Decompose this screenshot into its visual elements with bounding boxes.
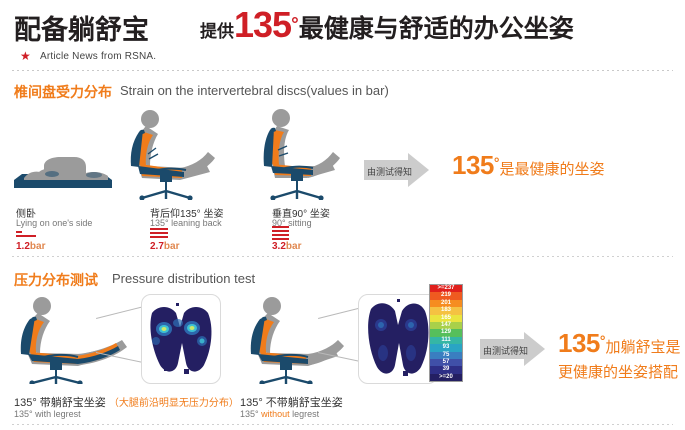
figure-label-en: Lying on one's side (16, 218, 92, 228)
page-title-left: 配备躺舒宝 (14, 8, 149, 47)
pressure-map-with-legrest (141, 294, 221, 384)
strain-unit-2: bar (164, 241, 180, 252)
figure3-label-en-suffix: legrest (290, 409, 320, 419)
legend-entry: 165 (430, 315, 462, 322)
legend-entry: 183 (430, 307, 462, 314)
figure3-label-cn: 135° 不带躺舒宝坐姿 (240, 394, 343, 410)
legend-entry: 129 (430, 329, 462, 336)
legend-entry: 219 (430, 292, 462, 299)
title-suffix: 最健康与舒适的办公坐姿 (299, 15, 574, 43)
conclusion-label-2a: 加躺舒宝是 (606, 339, 681, 356)
chair-without-legrest-icon (238, 296, 348, 384)
section-divider-2 (12, 424, 673, 425)
figure3-label-en-highlight: without (261, 409, 290, 419)
legend-entry: 93 (430, 344, 462, 351)
figure-label-en: 135° leaning back (150, 218, 222, 228)
strain-value-3: 3.2bar (272, 241, 301, 252)
arrow-label-2: 由测试得知 (483, 344, 528, 357)
conclusion-label-1: 是最健康的坐姿 (500, 161, 605, 178)
lying-person-icon (8, 140, 118, 198)
arrow-label-1: 由测试得知 (367, 165, 412, 178)
star-icon: ★ (20, 50, 31, 62)
pressure-map-without-legrest (358, 294, 438, 384)
strain-bars-1 (16, 231, 36, 239)
strain-bars-3 (272, 226, 289, 242)
page-title-right: 提供135°最健康与舒适的办公坐姿 (200, 4, 574, 46)
legend-entry: 147 (430, 322, 462, 329)
title-prefix: 提供 (200, 22, 234, 41)
legend-entry: 57 (430, 359, 462, 366)
strain-number-2: 2.7 (150, 241, 164, 252)
figure2-label-note: （大腿前沿明显无压力分布） (109, 398, 239, 409)
section2-heading-en: Pressure distribution test (112, 271, 255, 286)
strain-value-1: 1.2bar (16, 241, 45, 252)
figure2-label-cn: 135° 带躺舒宝坐姿 （大腿前沿明显无压力分布） (14, 394, 239, 410)
chair-with-legrest-icon (8, 296, 134, 384)
section-divider-1 (12, 256, 673, 257)
title-angle-number: 135 (234, 4, 291, 45)
section1-heading-en: Strain on the intervertebral discs(value… (120, 83, 389, 98)
section1-heading-cn: 椎间盘受力分布 (14, 82, 112, 102)
strain-number-3: 3.2 (272, 241, 286, 252)
strain-unit-3: bar (286, 241, 302, 252)
header-divider (12, 70, 673, 71)
figure2-label-en: 135° with legrest (14, 409, 81, 419)
figure3-label-en-prefix: 135° (240, 409, 261, 419)
legend-entry: 111 (430, 337, 462, 344)
strain-number-1: 1.2 (16, 241, 30, 252)
legend-entry: 75 (430, 352, 462, 359)
strain-unit-1: bar (30, 241, 46, 252)
chair-upright-90-icon (245, 108, 345, 200)
title-degree-symbol: ° (291, 15, 299, 36)
chair-leaning-135-icon (120, 108, 225, 200)
section2-heading-cn: 压力分布测试 (14, 270, 98, 290)
conclusion-text-1: 135°是最健康的坐姿 (452, 150, 605, 181)
conclusion-number-2: 135 (558, 328, 600, 358)
legend-entry: 39 (430, 366, 462, 373)
conclusion-text-2: 135°加躺舒宝是 更健康的坐姿搭配 (558, 328, 681, 382)
conclusion-arrow-1: 由测试得知 (364, 153, 430, 187)
strain-value-2: 2.7bar (150, 241, 179, 252)
conclusion-number-1: 135 (452, 150, 494, 180)
conclusion-arrow-2: 由测试得知 (480, 332, 546, 366)
legend-entry: 201 (430, 300, 462, 307)
pressure-color-scale: >=237 219 201 183 165 147 129 111 93 75 … (429, 284, 463, 382)
infographic-page: 配备躺舒宝 提供135°最健康与舒适的办公坐姿 ★ Article News f… (0, 0, 685, 430)
conclusion-label-2b: 更健康的坐姿搭配 (558, 361, 681, 382)
figure2-label-main: 135° 带躺舒宝坐姿 (14, 397, 106, 409)
figure3-label-en: 135° without legrest (240, 409, 319, 419)
strain-bars-2 (150, 228, 168, 240)
legend-entry: >=20 (430, 374, 462, 381)
source-note: Article News from RSNA. (40, 51, 156, 62)
page-header: 配备躺舒宝 提供135°最健康与舒适的办公坐姿 ★ Article News f… (0, 0, 685, 72)
legend-entry: >=237 (430, 285, 462, 292)
